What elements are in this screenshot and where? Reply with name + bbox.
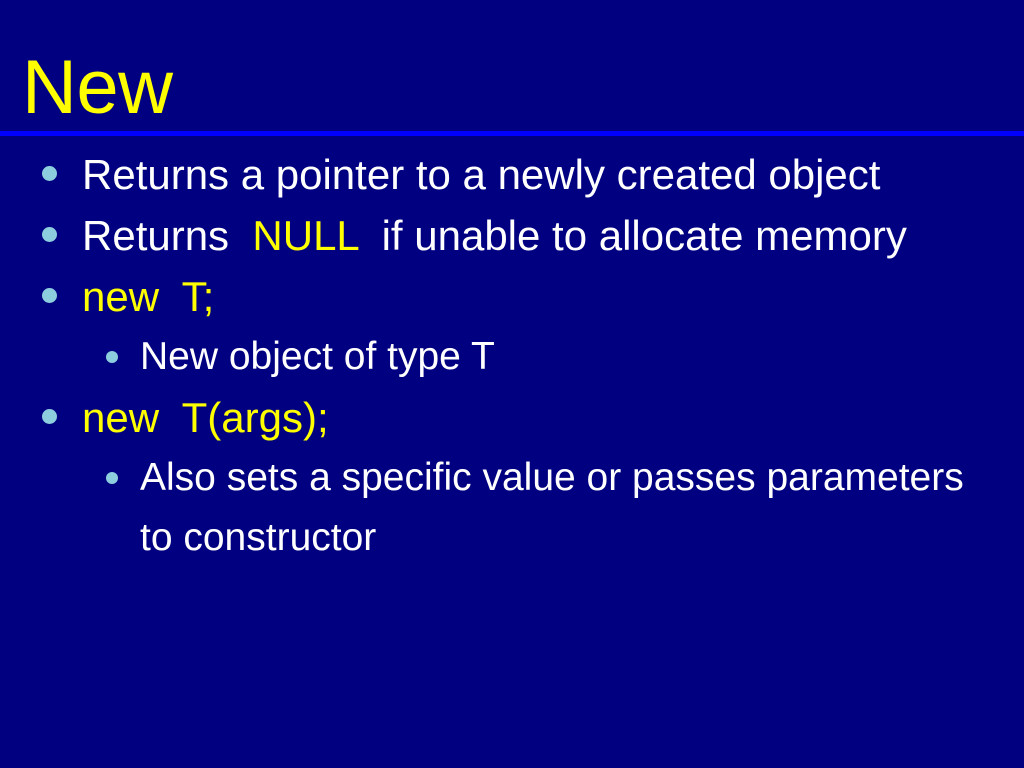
bullet-dot-icon <box>42 288 57 303</box>
bullet-text: Returns NULL if unable to allocate memor… <box>82 205 984 266</box>
bullet-text: new T; <box>82 266 984 327</box>
title-divider-rule <box>0 131 1024 136</box>
code-token: new T(args); <box>82 394 329 441</box>
bullet-text: Returns a pointer to a newly created obj… <box>82 144 984 205</box>
bullet-text: Also sets a specific value or passes par… <box>140 448 984 568</box>
bullet-item-level-1: new T; <box>0 266 1024 327</box>
bullet-dot-icon <box>42 166 57 181</box>
bullet-item-level-1: new T(args); <box>0 387 1024 448</box>
slide-title: New <box>22 48 173 128</box>
bullet-text: new T(args); <box>82 387 984 448</box>
bullet-dot-icon <box>106 472 118 484</box>
slide-body-bullet-list: Returns a pointer to a newly created obj… <box>0 144 1024 568</box>
bullet-dot-icon <box>42 409 57 424</box>
bullet-item-level-1: Returns NULL if unable to allocate memor… <box>0 205 1024 266</box>
code-token: NULL <box>252 212 358 259</box>
bullet-dot-icon <box>42 227 57 242</box>
slide-canvas: New Returns a pointer to a newly created… <box>0 0 1024 768</box>
bullet-item-level-2: Also sets a specific value or passes par… <box>0 448 1024 568</box>
bullet-text-run: if unable to allocate memory <box>358 212 907 259</box>
bullet-text: New object of type T <box>140 327 984 387</box>
bullet-dot-icon <box>106 351 118 363</box>
bullet-item-level-2: New object of type T <box>0 327 1024 387</box>
bullet-text-run: Returns <box>82 212 252 259</box>
code-token: new T; <box>82 273 214 320</box>
bullet-item-level-1: Returns a pointer to a newly created obj… <box>0 144 1024 205</box>
